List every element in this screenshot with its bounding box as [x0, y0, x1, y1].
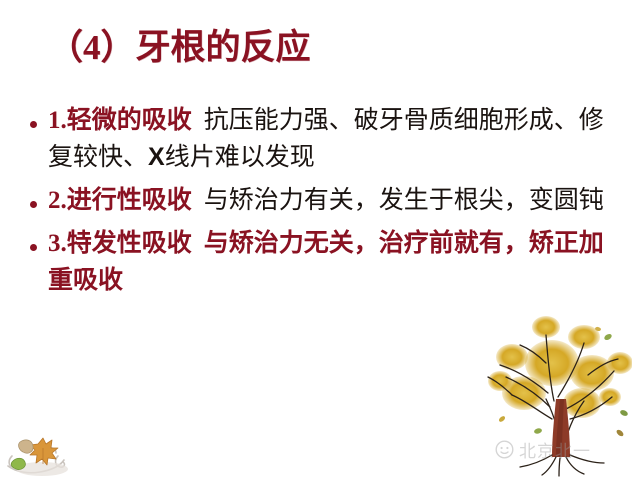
list-item-text: 2.进行性吸收与矫治力有关，发生于根尖，变圆钝: [48, 182, 620, 219]
list-item: 3.特发性吸收与矫治力无关，治疗前就有，矫正加重吸收: [30, 225, 620, 299]
autumn-tree-illustration: [442, 315, 632, 480]
list-item-body-a: 与矫治力有关，发生于根尖，变圆钝: [204, 187, 604, 214]
list-item-body-x: X: [148, 143, 165, 171]
bullet-list: 1.轻微的吸收抗压能力强、破牙骨质细胞形成、修复较快、X线片难以发现 2.进行性…: [30, 102, 620, 305]
autumn-leaves-decoration: [2, 426, 97, 478]
watermark-text: 北京北一: [519, 437, 591, 462]
tree-foliage: [488, 316, 632, 418]
tree-trunk: [552, 399, 570, 457]
bullet-dot-icon: [30, 182, 48, 213]
tree-roots: [520, 455, 604, 476]
tan-leaf-icon: [19, 440, 34, 453]
list-item: 1.轻微的吸收抗压能力强、破牙骨质细胞形成、修复较快、X线片难以发现: [30, 102, 620, 176]
maple-leaf-icon: [30, 438, 58, 465]
list-item-text: 1.轻微的吸收抗压能力强、破牙骨质细胞形成、修复较快、X线片难以发现: [48, 102, 620, 176]
tree-branches: [488, 335, 618, 455]
bullet-dot-icon: [30, 225, 48, 256]
list-item-text: 3.特发性吸收与矫治力无关，治疗前就有，矫正加重吸收: [48, 225, 620, 299]
smiley-face-icon: [495, 440, 514, 459]
green-leaf-icon: [11, 458, 25, 469]
swirl-decoration: [8, 448, 64, 473]
falling-leaves: [498, 326, 629, 437]
page-title: （4）牙根的反应: [48, 26, 311, 70]
list-item-lead: 2.进行性吸收: [48, 187, 192, 214]
list-item-body-b: 线片难以发现: [165, 144, 315, 171]
bullet-dot-icon: [30, 102, 48, 133]
watermark: 北京北一: [495, 437, 591, 462]
list-item-lead: 1.轻微的吸收: [48, 107, 192, 134]
list-item-lead: 3.特发性吸收: [48, 230, 192, 257]
list-item: 2.进行性吸收与矫治力有关，发生于根尖，变圆钝: [30, 182, 620, 219]
slide-canvas: （4）牙根的反应 1.轻微的吸收抗压能力强、破牙骨质细胞形成、修复较快、X线片难…: [0, 0, 640, 480]
